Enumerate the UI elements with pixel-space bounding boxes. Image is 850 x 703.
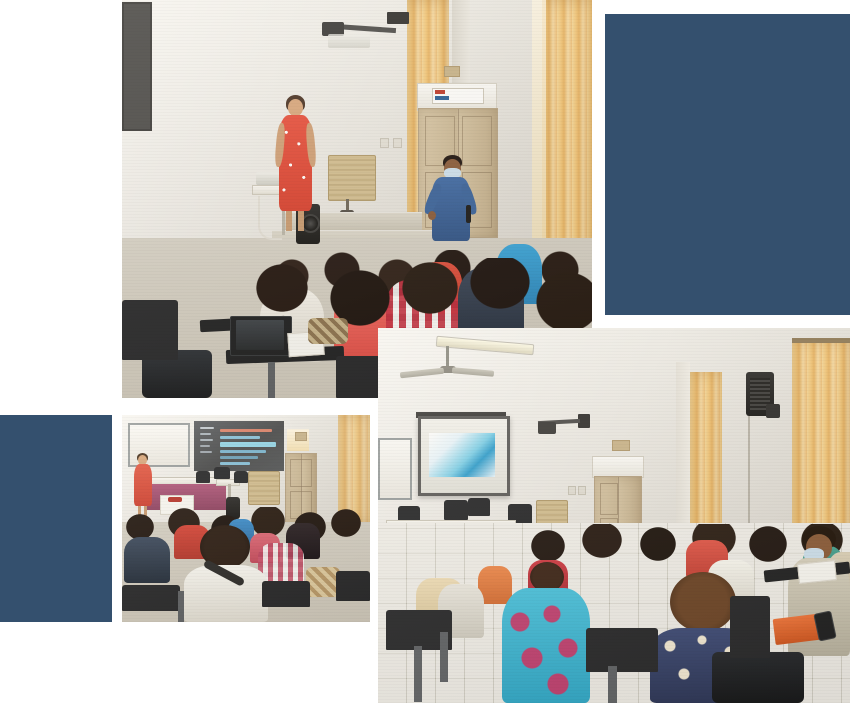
wall-outlet-2: [393, 138, 402, 148]
stage-chair-1: [196, 471, 210, 483]
blue-patterned-top: [502, 588, 590, 703]
slide-text-line: [200, 433, 211, 435]
notepad: [797, 560, 837, 584]
foreground-person-white-shirt: [184, 525, 268, 622]
presenter-woman-red-dress: [274, 95, 316, 235]
collage-canvas: [0, 0, 850, 703]
photo-bottom-right-hall: [378, 328, 850, 703]
chair-front-left: [122, 300, 178, 360]
door-sign-red-mark: [435, 90, 445, 94]
swatch-top-right: [605, 14, 850, 315]
chair-row-front-left: [122, 585, 180, 611]
door-panel-upper: [290, 459, 312, 487]
hair-curly: [670, 572, 736, 632]
leg-right: [298, 211, 304, 231]
microphone-icon: [466, 205, 471, 223]
door-sign-blue-mark: [435, 96, 449, 100]
stage-chair-3: [234, 471, 248, 483]
projector-body: [328, 34, 370, 48]
chair-row-front-right: [336, 571, 370, 601]
slide-text-line: [200, 439, 213, 441]
swatch-bottom-left: [0, 415, 112, 622]
door-panel-upper: [600, 483, 618, 515]
curtain-window-right: [792, 340, 850, 546]
speaker-man-blue-shirt: [428, 155, 474, 265]
wall-plaque: [295, 432, 307, 441]
speaker-bracket: [766, 404, 780, 418]
slide-text-line: [200, 445, 210, 447]
wall-outlet-1: [568, 486, 576, 495]
projected-video-slide: [429, 433, 495, 477]
table-item-red: [168, 497, 182, 502]
photo-bottom-left-presentation: [122, 415, 370, 622]
dress: [134, 464, 152, 506]
laptop-screen: [236, 320, 284, 350]
stage-chair-3: [468, 498, 490, 516]
wall-outlet-2: [578, 486, 586, 495]
projector-head-icon: [538, 422, 556, 434]
wall-plaque: [612, 440, 630, 451]
wooden-radiator: [328, 155, 376, 201]
scene-presentation-room: [122, 415, 370, 622]
foreground-person-blue-patterned-dress: [502, 562, 590, 703]
handbag: [308, 318, 348, 344]
slide-text-line: [200, 427, 214, 429]
stage-chair-2: [444, 500, 468, 520]
whiteboard: [378, 438, 412, 500]
wall-plaque: [444, 66, 460, 77]
radiator: [248, 471, 280, 505]
projection-screen: [418, 416, 510, 496]
slide-chart-bar: [220, 456, 258, 459]
projector-ceiling-bracket: [387, 12, 409, 24]
chair-row-front-center: [262, 581, 310, 607]
ceiling-fan-rod: [446, 346, 449, 368]
chair-leg-left: [414, 646, 422, 702]
speaker-cable: [748, 416, 750, 536]
curtain-window-left: [690, 372, 722, 548]
backpack-foreground: [712, 652, 804, 703]
hand-left: [428, 211, 436, 220]
stage-chair-2: [214, 467, 230, 479]
chair-right-aisle: [730, 596, 770, 658]
slide-text-line: [200, 451, 212, 453]
chair-leg-center-2: [608, 666, 617, 703]
slide-chart-bar: [220, 462, 250, 465]
head: [288, 99, 303, 116]
chair-leg: [268, 362, 275, 398]
chair-leg-center: [440, 632, 448, 682]
chair-leg-front: [178, 591, 184, 622]
slide-chart-bar: [220, 436, 260, 439]
projected-slide: [194, 421, 284, 471]
leg-left: [286, 211, 292, 231]
chair-center-row: [586, 628, 658, 672]
wall-board: [122, 2, 152, 131]
slide-chart-bar: [220, 442, 276, 447]
slide-chart-bar: [220, 450, 266, 453]
door-transom: [592, 456, 644, 478]
slide-chart-bar: [220, 429, 272, 432]
wall-outlet-1: [380, 138, 389, 148]
straw-handbag: [306, 567, 340, 597]
curtain-rod: [792, 338, 850, 343]
audience-member-navy-top: [124, 537, 170, 583]
scene-lecture-hall-wide: [378, 328, 850, 703]
